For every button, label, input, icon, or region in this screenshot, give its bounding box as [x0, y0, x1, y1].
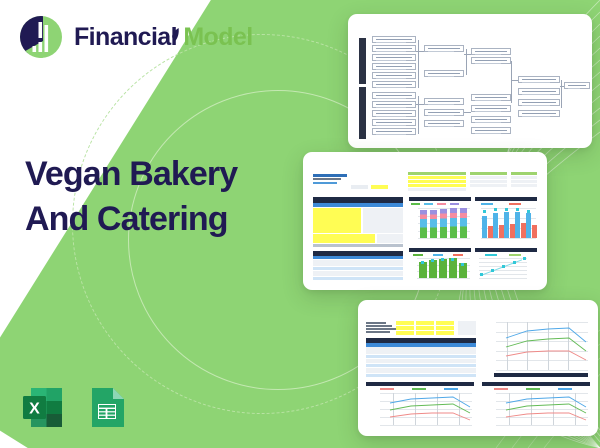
input-cell[interactable]: [416, 331, 434, 335]
table-rows: [366, 347, 476, 354]
chart-title-bar: [475, 197, 537, 201]
revenue-breakdown-stacked-bar: [409, 197, 471, 245]
summary-row: [408, 176, 466, 179]
chart-legend: [409, 202, 471, 206]
flow-node: [471, 94, 511, 101]
connector: [418, 40, 419, 88]
table-caption: [366, 322, 386, 324]
connector: [464, 112, 471, 113]
table-rows: [313, 271, 403, 276]
chart-title-bar: [409, 248, 471, 252]
table-rows: [366, 359, 476, 363]
cumulative-position-line: [475, 248, 537, 284]
input-cell[interactable]: [436, 321, 454, 325]
summary-row: [408, 188, 466, 191]
chart-plot-area: [496, 322, 588, 370]
connector: [511, 80, 518, 81]
calculated-cells-block: [363, 208, 403, 233]
chart-plot-area: [479, 258, 527, 278]
chart-legend: [482, 387, 590, 391]
brand-name-part1: Financial: [74, 23, 177, 51]
flow-node: [471, 127, 511, 134]
flow-node: [518, 99, 560, 106]
connector: [418, 96, 419, 134]
table-row-highlight: [313, 267, 403, 270]
dupont-ratio-flow-diagram-card[interactable]: [348, 14, 592, 148]
chart-legend: [475, 202, 537, 206]
input-cell[interactable]: [396, 326, 414, 330]
google-sheets-icon[interactable]: [84, 385, 129, 430]
flow-node: [372, 110, 416, 117]
summary-header: [511, 172, 537, 175]
chart-plot-area: [481, 208, 536, 238]
input-cell[interactable]: [396, 331, 414, 335]
dashboard-title: [313, 174, 347, 177]
chart-plot-area: [418, 208, 470, 238]
flow-node: [424, 45, 464, 52]
flow-node: [471, 105, 511, 112]
profit-margins-line-right: [482, 320, 590, 378]
flow-node: [372, 92, 416, 99]
flow-node: [372, 128, 416, 135]
file-format-icons: X: [20, 385, 129, 430]
calculated-cells-block: [458, 321, 476, 335]
table-row-highlight: [366, 364, 476, 367]
table-row-highlight: [313, 277, 403, 280]
table-rows: [313, 260, 403, 266]
financial-statements-charts-card[interactable]: [358, 300, 598, 436]
flow-node: [518, 110, 560, 117]
summary-row: [470, 180, 507, 183]
flow-node: [372, 63, 416, 70]
flow-node: [471, 57, 511, 64]
flow-node: [518, 88, 560, 95]
chart-legend: [475, 253, 537, 256]
table-caption: [366, 325, 392, 327]
flow-node: [372, 81, 416, 88]
dashboard-subtitle: [313, 178, 341, 180]
chart-legend: [409, 253, 471, 256]
table-subheader: [313, 256, 403, 259]
flow-node: [372, 54, 416, 61]
summary-row: [511, 180, 537, 183]
input-cell[interactable]: [416, 321, 434, 325]
brand-name-part2: Model: [183, 23, 252, 51]
svg-text:X: X: [29, 401, 40, 418]
flow-node: [372, 72, 416, 79]
summary-row: [511, 184, 537, 187]
profitability-grouped-bar: [475, 197, 537, 245]
dashboard-caption: [313, 182, 337, 184]
financial-dashboard-card[interactable]: [303, 152, 547, 290]
flow-node: [424, 70, 464, 77]
input-cells-block[interactable]: [313, 234, 375, 243]
brand-logo: Financial Model: [18, 14, 253, 60]
calculated-cells-block: [377, 234, 403, 243]
table-subheader: [313, 203, 403, 207]
flow-node: [372, 101, 416, 108]
chart-legend: [366, 387, 474, 391]
summary-row: [408, 180, 466, 183]
chart-title-bar: [409, 197, 471, 201]
page-title: Vegan Bakery And Catering: [25, 152, 260, 242]
profit-margins-line-right-lower: [482, 382, 590, 434]
microsoft-excel-icon[interactable]: X: [20, 385, 65, 430]
flow-node: [424, 120, 464, 127]
input-cell[interactable]: [396, 321, 414, 325]
flow-node: [471, 48, 511, 55]
connector: [466, 49, 467, 75]
input-cell[interactable]: [371, 185, 388, 189]
leaf-icon: [171, 28, 180, 41]
balance-sheet-band: [359, 87, 366, 139]
chart-plot-area: [380, 393, 472, 425]
flow-node: [424, 109, 464, 116]
connector: [511, 61, 512, 103]
flow-node: [471, 116, 511, 123]
summary-row: [470, 184, 507, 187]
chart-plot-area: [496, 393, 588, 425]
cash-flow-bar: [409, 248, 471, 284]
input-cell[interactable]: [416, 326, 434, 330]
brand-wordmark: Financial Model: [74, 23, 253, 52]
table-row-highlight: [366, 374, 476, 377]
summary-row: [408, 184, 466, 187]
connector: [561, 80, 562, 108]
table-caption: [366, 331, 390, 333]
chart-title-bar: [494, 373, 588, 377]
summary-row: [511, 176, 537, 179]
flow-node: [424, 98, 464, 105]
table-rows: [366, 368, 476, 373]
chart-title-bar: [482, 382, 590, 386]
summary-header: [408, 172, 466, 175]
summary-header: [470, 172, 507, 175]
input-cells-block[interactable]: [313, 208, 361, 233]
input-cell[interactable]: [436, 326, 454, 330]
roe-node: [564, 82, 590, 89]
chart-plot-area: [417, 258, 470, 278]
summary-row: [470, 176, 507, 179]
flow-node: [372, 36, 416, 43]
financial-model-circle-bars-logo: [18, 14, 64, 60]
table-row-highlight: [366, 355, 476, 358]
income-statement-band: [359, 38, 366, 84]
input-cell[interactable]: [436, 331, 454, 335]
flow-node: [372, 119, 416, 126]
flow-node: [372, 45, 416, 52]
table-total-row: [313, 244, 403, 247]
flow-node: [518, 76, 560, 83]
table-subheader: [366, 343, 476, 347]
chart-title-bar: [475, 248, 537, 252]
profit-margins-line-left: [364, 382, 476, 434]
toggle-button[interactable]: [351, 185, 368, 189]
table-caption: [366, 328, 396, 330]
chart-title-bar: [366, 382, 474, 386]
